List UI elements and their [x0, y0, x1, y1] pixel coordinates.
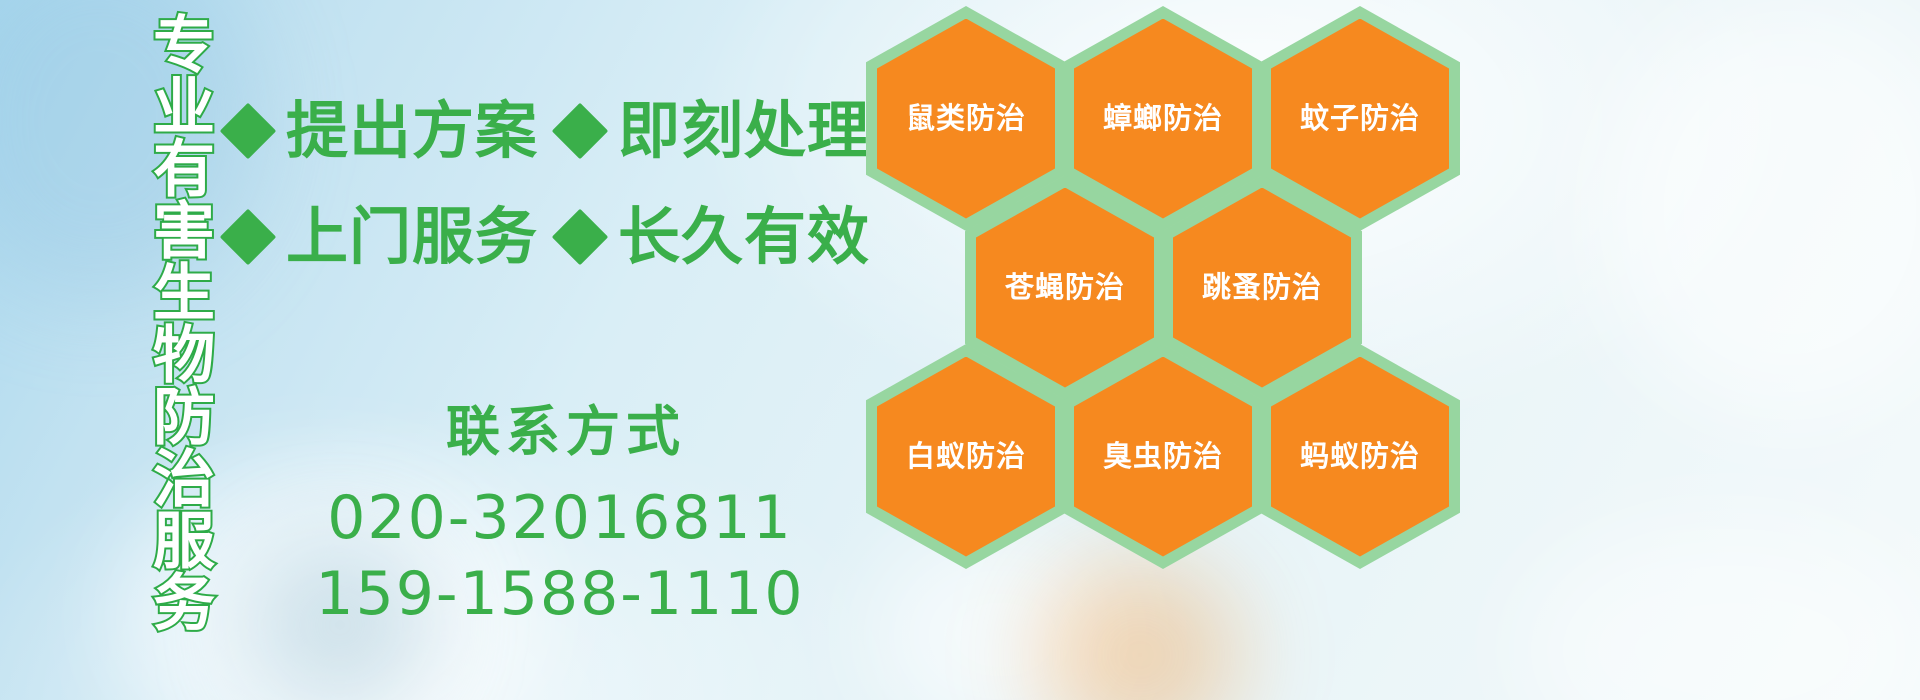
vertical-company-title: 专业有害生物防治服务: [112, 12, 208, 552]
hex-label: 蚂蚁防治: [1300, 442, 1420, 471]
diamond-icon: [220, 209, 277, 266]
hex-inner: 鼠类防治: [877, 19, 1055, 219]
slogan-item-long-lasting-effect: 长久有效: [560, 206, 870, 268]
hex-inner: 白蚁防治: [877, 357, 1055, 557]
slogan-item-door-to-door-service: 上门服务: [228, 206, 538, 268]
contact-block: 联系方式 020-32016811 159-1588-1110: [300, 398, 820, 632]
diamond-icon: [220, 103, 277, 160]
hex-inner: 蟑螂防治: [1074, 19, 1252, 219]
contact-title: 联系方式: [312, 398, 820, 466]
slogan-item-propose-plan: 提出方案: [228, 100, 538, 162]
pest-control-service-banner: 专业有害生物防治服务 提出方案 即刻处理 上门服务 长久有效 联系方式: [0, 0, 1920, 700]
slogan-item-immediate-handling: 即刻处理: [560, 100, 870, 162]
hex-label: 白蚁防治: [906, 442, 1026, 471]
slogan-label: 即刻处理: [618, 100, 870, 162]
hex-inner: 蚂蚁防治: [1271, 357, 1449, 557]
slogan-block: 提出方案 即刻处理 上门服务 长久有效: [228, 78, 878, 290]
background-blur-blob: [1520, 520, 1920, 700]
hex-inner: 臭虫防治: [1074, 357, 1252, 557]
hex-label: 鼠类防治: [906, 104, 1026, 133]
phone-mobile[interactable]: 159-1588-1110: [300, 556, 820, 632]
phone-landline[interactable]: 020-32016811: [300, 480, 820, 556]
hex-inner: 跳蚤防治: [1173, 188, 1351, 388]
slogan-label: 上门服务: [286, 206, 538, 268]
slogan-label: 长久有效: [618, 206, 870, 268]
background-blur-blob: [1600, 0, 1920, 420]
slogan-row: 提出方案 即刻处理: [228, 78, 878, 184]
slogan-label: 提出方案: [286, 100, 538, 162]
hex-label: 蚊子防治: [1300, 104, 1420, 133]
hex-label: 蟑螂防治: [1103, 104, 1223, 133]
hex-label: 苍蝇防治: [1005, 273, 1125, 302]
service-honeycomb-grid: 鼠类防治 蟑螂防治 蚊子防治 苍蝇防治 跳蚤防治 白蚁防: [858, 0, 1478, 700]
diamond-icon: [552, 209, 609, 266]
hex-label: 跳蚤防治: [1202, 273, 1322, 302]
hex-label: 臭虫防治: [1103, 442, 1223, 471]
diamond-icon: [552, 103, 609, 160]
hex-inner: 蚊子防治: [1271, 19, 1449, 219]
hex-inner: 苍蝇防治: [976, 188, 1154, 388]
slogan-row: 上门服务 长久有效: [228, 184, 878, 290]
